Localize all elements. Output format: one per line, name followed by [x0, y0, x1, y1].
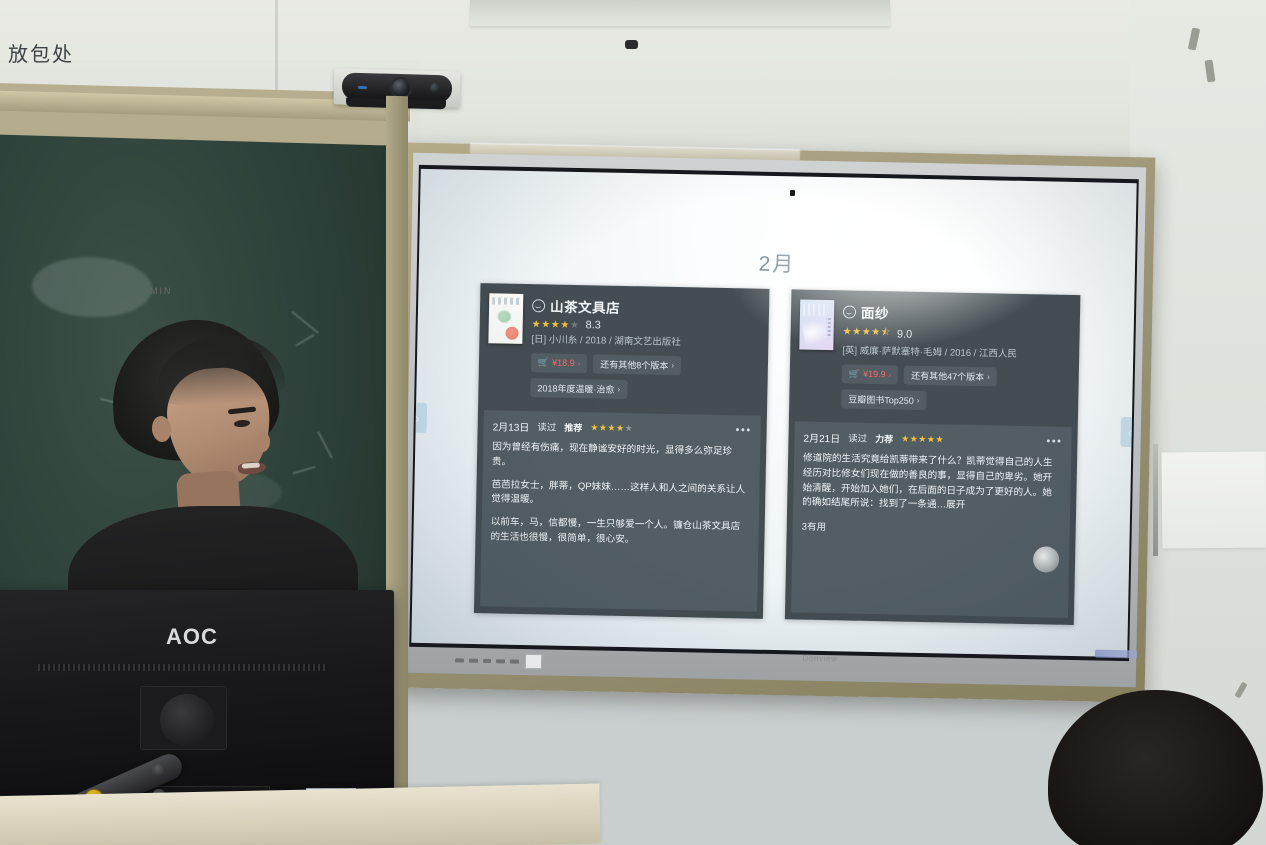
other-editions-label: 还有其他8个版本 [600, 357, 668, 371]
other-editions-chip[interactable]: 还有其他47个版本 › [904, 365, 997, 386]
rating-stars-icon: ★★★★⯪ [842, 324, 891, 342]
review-paragraph: 芭芭拉女士，胖蒂，QP妹妹……这样人和人之间的关系让人觉得温暖。 [491, 478, 751, 513]
presenter-mouth [238, 461, 267, 475]
rating-stars-icon: ★★★★★ [532, 319, 580, 331]
review-stars-icon: ★★★★★ [590, 422, 633, 434]
book-award-chips: 2018年度温暖·治愈 › [530, 378, 758, 402]
book-rating: ★★★★⯪ 9.0 [842, 324, 1070, 346]
book-byline: [英] 威廉·萨默塞特·毛姆 / 2016 / 江西人民 [842, 345, 1070, 362]
price-value: ¥19.9 [863, 369, 886, 379]
monitor-vents [38, 664, 328, 671]
chevron-right-icon: › [888, 370, 891, 379]
award-label: 豆瓣图书Top250 [848, 392, 914, 406]
rating-score: 9.0 [897, 328, 913, 340]
presentation-slide: › ‹ 2月 山茶文具店 ★★★★★ [411, 169, 1136, 657]
webcam-led-icon [358, 86, 367, 89]
review-date: 2月13日 [493, 418, 530, 434]
book-cover-image [799, 300, 834, 351]
display-badge [525, 654, 542, 669]
chevron-right-icon: › [617, 385, 620, 394]
award-chip[interactable]: 2018年度温暖·治愈 › [530, 378, 627, 399]
book-review: 2月21日 读过 力荐 ★★★★★ ••• 修道院的生活究竟给凯蒂带来了什么？凯… [791, 421, 1072, 618]
chevron-right-icon: › [917, 396, 920, 405]
presenter-nose [256, 432, 270, 452]
buy-price-chip[interactable]: 🛒 ¥19.9 › [842, 364, 899, 384]
shopping-cart-icon: 🛒 [849, 368, 860, 379]
award-chip[interactable]: 豆瓣图书Top250 › [841, 389, 927, 410]
buy-price-chip[interactable]: 🛒 ¥18.9 › [531, 353, 588, 373]
more-dots-icon[interactable]: ••• [1046, 439, 1062, 445]
audience-member [1048, 690, 1266, 845]
award-label: 2018年度温暖·治愈 [537, 381, 614, 396]
review-header: 2月21日 读过 力荐 ★★★★★ ••• [803, 429, 1062, 449]
review-date: 2月21日 [803, 429, 840, 445]
book-card[interactable]: 山茶文具店 ★★★★★ 8.3 [日] 小川糸 / 2018 / 湖南文艺出版社… [474, 283, 770, 619]
slide-title: 2月 [419, 241, 1135, 285]
book-card[interactable]: 面纱 ★★★★⯪ 9.0 [英] 威廉·萨默塞特·毛姆 / 2016 / 江西人… [785, 289, 1081, 625]
arm-joint [152, 763, 166, 777]
book-rating: ★★★★★ 8.3 [532, 318, 760, 335]
monitor-brand-logo: AOC [166, 624, 218, 650]
book-meta: 面纱 ★★★★⯪ 9.0 [英] 威廉·萨默塞特·毛姆 / 2016 / 江西人… [841, 300, 1071, 412]
more-dots-icon[interactable]: ••• [736, 428, 752, 434]
wall-sign [1162, 451, 1266, 548]
book-review: 2月13日 读过 推荐 ★★★★★ ••• 因为曾经有伤痛，现在静谧安好的时光，… [480, 410, 761, 612]
douban-smiley-icon [532, 299, 545, 312]
shopping-cart-icon: 🛒 [538, 357, 549, 368]
review-stars-icon: ★★★★★ [901, 433, 944, 445]
audience-hair [1048, 690, 1263, 845]
review-status: 读过 [848, 431, 867, 445]
display-brand-label: Donview [790, 653, 850, 663]
review-paragraph: 因为曾经有伤痛，现在静谧安好的时光，显得多么弥足珍贵。 [492, 440, 752, 475]
review-paragraph: 以前车，马，信都慢，一生只够爱一个人。镰仓山茶文具店的生活也很慢，很简单，很心安… [490, 516, 750, 551]
book-title[interactable]: 山茶文具店 [550, 295, 620, 316]
rating-score: 8.3 [585, 319, 601, 331]
classroom-scene: › ‹ 2月 山茶文具店 ★★★★★ [0, 0, 1266, 845]
price-value: ¥18.9 [552, 358, 575, 368]
wall-seam [275, 0, 278, 96]
review-paragraph: 修道院的生活究竟给凯蒂带来了什么？凯蒂觉得自己的人生经历对比修女们现在做的善良的… [802, 451, 1062, 516]
display-control-buttons[interactable] [455, 658, 519, 665]
wall-sign-text: 放包处 [8, 38, 74, 67]
review-rating-label: 力荐 [875, 432, 893, 445]
book-meta: 山茶文具店 ★★★★★ 8.3 [日] 小川糸 / 2018 / 湖南文艺出版社… [530, 294, 760, 401]
review-header: 2月13日 读过 推荐 ★★★★★ ••• [493, 418, 752, 438]
douban-smiley-icon [843, 305, 856, 318]
book-card-list: 山茶文具店 ★★★★★ 8.3 [日] 小川糸 / 2018 / 湖南文艺出版社… [474, 283, 1081, 625]
ceiling-sensor-icon [625, 40, 638, 49]
projector-glare [1033, 546, 1060, 573]
review-useful-count[interactable]: 3有用 [802, 519, 1061, 538]
shirt-print-text: MIN [150, 286, 173, 296]
monitor-pivot-joint [160, 694, 214, 746]
chevron-right-icon: › [987, 372, 990, 381]
book-card-header: 面纱 ★★★★⯪ 9.0 [英] 威廉·萨默塞特·毛姆 / 2016 / 江西人… [789, 289, 1080, 421]
display-camera-icon [790, 190, 795, 196]
sign-edge [1153, 444, 1158, 556]
chevron-right-icon: › [578, 359, 581, 368]
other-editions-chip[interactable]: 还有其他8个版本 › [593, 354, 681, 375]
chevron-right-icon: › [671, 361, 674, 370]
book-byline: [日] 小川糸 / 2018 / 湖南文艺出版社 [531, 334, 759, 351]
book-cover-image [488, 293, 523, 344]
review-rating-label: 推荐 [564, 421, 582, 434]
book-title[interactable]: 面纱 [861, 302, 889, 323]
book-action-chips: 🛒 ¥19.9 › 还有其他47个版本 › [842, 364, 1070, 388]
book-award-chips: 豆瓣图书Top250 › [841, 389, 1069, 413]
book-card-header: 山茶文具店 ★★★★★ 8.3 [日] 小川糸 / 2018 / 湖南文艺出版社… [478, 283, 769, 410]
review-status: 读过 [537, 420, 556, 434]
display-corner-logo [1095, 650, 1137, 659]
book-action-chips: 🛒 ¥18.9 › 还有其他8个版本 › [531, 353, 759, 377]
ceiling-strip [470, 0, 890, 26]
other-editions-label: 还有其他47个版本 [911, 369, 984, 383]
